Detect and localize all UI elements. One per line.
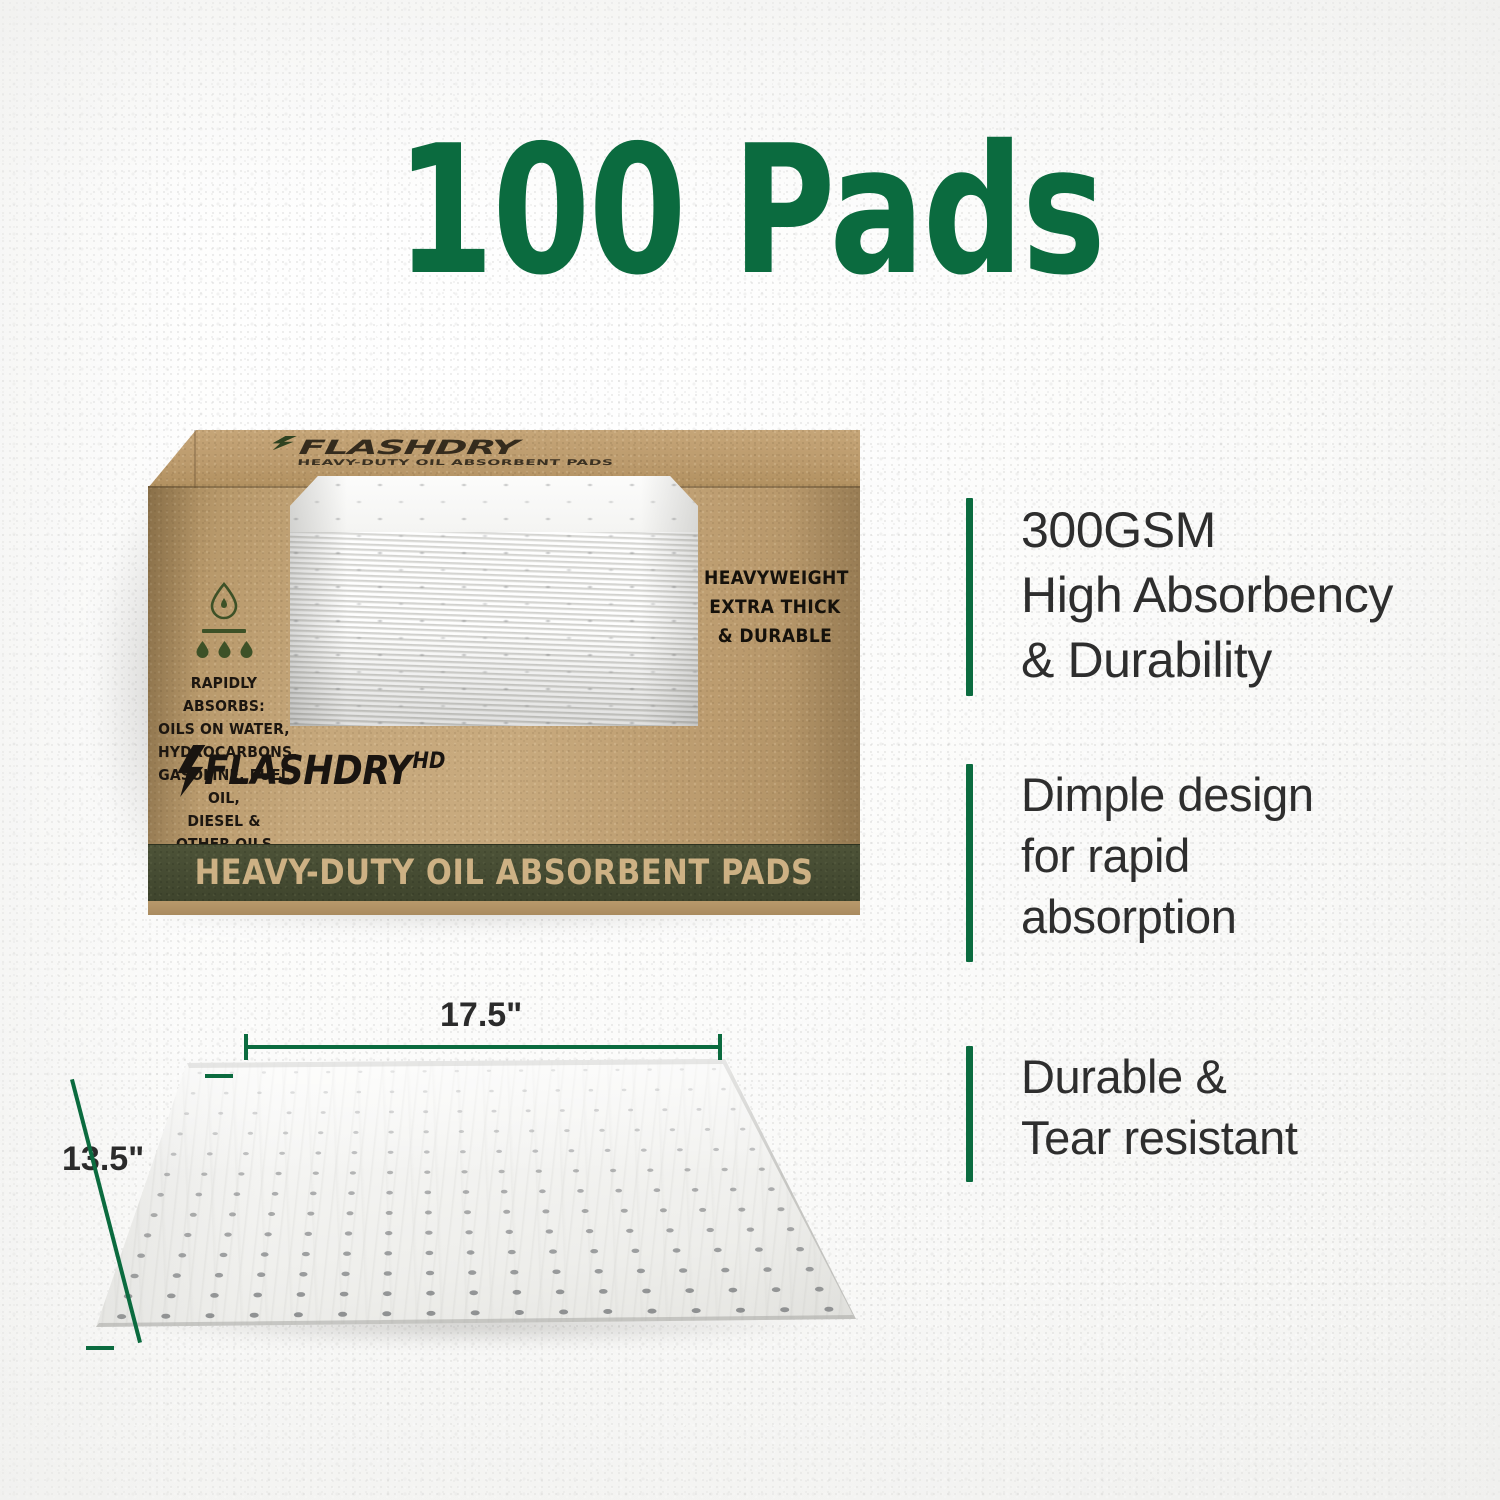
lightning-bolt-icon — [172, 745, 206, 797]
box-left-panel: RAPIDLY ABSORBS: OILS ON WATER, HYDROCAR… — [158, 582, 290, 856]
droplet-divider-rule — [202, 629, 246, 633]
brand-lockup: FLASHDRY HD — [172, 745, 445, 797]
pad-stack-in-box — [290, 476, 698, 726]
oil-droplet-outline-icon — [209, 582, 239, 620]
pad-width-dimension-line — [244, 1045, 722, 1049]
pad-width-tick-left — [244, 1034, 248, 1060]
absorbs-list-line: RAPIDLY ABSORBS: — [158, 672, 290, 718]
feature-accent-bar — [966, 1046, 973, 1182]
box-top-brand-name: FLASHDRY — [298, 438, 720, 458]
box-bottom-strip — [148, 901, 860, 915]
droplet-icon — [217, 640, 232, 659]
product-infographic: 100 Pads — [0, 0, 1500, 1500]
brand-suffix: HD — [412, 751, 445, 773]
feature-accent-bar — [966, 498, 973, 696]
feature-accent-bar — [966, 764, 973, 962]
box-top-subtitle: HEAVY-DUTY OIL ABSORBENT PADS — [297, 458, 718, 467]
feature-item-dimple-design: Dimple design for rapid absorption — [966, 764, 1466, 962]
feature-item-durability: Durable & Tear resistant — [966, 1046, 1466, 1182]
banner-label: HEAVY-DUTY OIL ABSORBENT PADS — [194, 853, 813, 893]
pad-width-tick-right — [718, 1034, 722, 1060]
box-corner-fold — [194, 430, 196, 488]
brand-name: FLASHDRY — [204, 751, 411, 791]
feature-label: Durable & Tear resistant — [1021, 1046, 1298, 1168]
feature-label: 300GSM High Absorbency & Durability — [1021, 498, 1393, 693]
page-title: 100 Pads — [90, 122, 1410, 300]
box-claim-line: HEAVYWEIGHT — [704, 564, 846, 593]
pad-height-tick-bottom — [86, 1346, 114, 1350]
pad-height-tick-top — [205, 1074, 233, 1078]
droplet-row — [158, 640, 290, 659]
box-top-logo: FLASHDRY HEAVY-DUTY OIL ABSORBENT PADS — [298, 438, 720, 457]
droplet-icon — [195, 640, 210, 659]
absorbs-list-line: OILS ON WATER, — [158, 718, 290, 741]
box-claim-line: & DURABLE — [704, 622, 846, 651]
product-box: RAPIDLY ABSORBS: OILS ON WATER, HYDROCAR… — [148, 430, 860, 915]
box-claim-line: EXTRA THICK — [704, 593, 846, 622]
droplet-icon — [239, 640, 254, 659]
box-banner: HEAVY-DUTY OIL ABSORBENT PADS — [148, 844, 860, 901]
pad-width-label: 17.5" — [440, 996, 522, 1035]
feature-item-absorbency: 300GSM High Absorbency & Durability — [966, 498, 1466, 696]
absorbent-pad — [96, 1055, 896, 1375]
box-right-panel: HEAVYWEIGHT EXTRA THICK & DURABLE — [704, 564, 846, 651]
feature-list: 300GSM High Absorbency & Durability Dimp… — [966, 498, 1466, 1182]
pad-stack-shading — [290, 476, 698, 726]
pad-height-label: 13.5" — [62, 1140, 144, 1179]
feature-label: Dimple design for rapid absorption — [1021, 764, 1314, 947]
